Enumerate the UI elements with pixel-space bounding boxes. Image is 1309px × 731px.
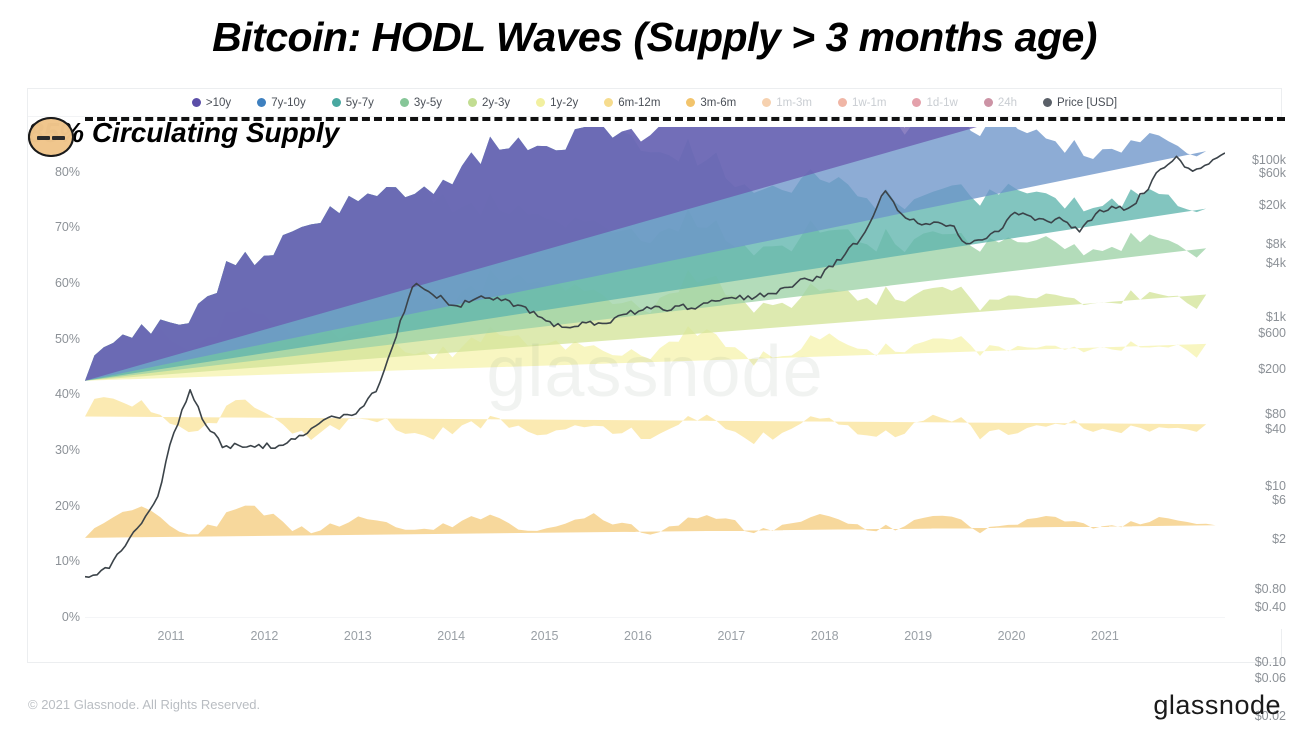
legend-swatch-icon (332, 98, 341, 107)
legend-item-price-usd[interactable]: Price [USD] (1043, 97, 1117, 109)
legend-label: 5y-7y (346, 97, 374, 109)
legend-item-1m-3m[interactable]: 1m-3m (762, 97, 812, 109)
y-axis-tick-label: 50% (28, 332, 80, 346)
y-axis-tick-label: 20% (28, 499, 80, 513)
legend-label: 1w-1m (852, 97, 887, 109)
price-axis-tick-label: $100k (1224, 153, 1286, 167)
y-axis-tick-label: 10% (28, 554, 80, 568)
plot-wrapper: glassnode 0%10%20%30%40%50%60%70%80% $10… (28, 117, 1281, 662)
legend-label: 24h (998, 97, 1017, 109)
legend-item-6m-12m[interactable]: 6m-12m (604, 97, 660, 109)
price-axis-tick-label: $200 (1224, 362, 1286, 376)
area-band-3m-6m (85, 506, 1216, 538)
x-axis-tick-label: 2020 (998, 629, 1026, 643)
legend-item-1y-2y[interactable]: 1y-2y (536, 97, 578, 109)
chart-legend[interactable]: >10y7y-10y5y-7y3y-5y2y-3y1y-2y6m-12m3m-6… (28, 89, 1281, 117)
legend-swatch-icon (762, 98, 771, 107)
legend-swatch-icon (536, 98, 545, 107)
legend-label: 3m-6m (700, 97, 736, 109)
price-axis-tick-label: $40 (1224, 422, 1286, 436)
copyright-text: © 2021 Glassnode. All Rights Reserved. (28, 697, 260, 712)
price-axis-tick-label: $80 (1224, 407, 1286, 421)
legend-swatch-icon (984, 98, 993, 107)
legend-label: 7y-10y (271, 97, 306, 109)
y-axis-tick-label: 0% (28, 610, 80, 624)
price-axis-tick-label: $8k (1224, 237, 1286, 251)
price-axis-tick-label: $600 (1224, 326, 1286, 340)
page-title: Bitcoin: HODL Waves (Supply > 3 months a… (0, 14, 1309, 61)
legend-label: 1d-1w (926, 97, 957, 109)
legend-swatch-icon (838, 98, 847, 107)
legend-label: >10y (206, 97, 231, 109)
x-axis-tick-label: 2012 (250, 629, 278, 643)
y-axis-tick-label: 60% (28, 276, 80, 290)
y-axis-tick-label: 70% (28, 220, 80, 234)
legend-swatch-icon (1043, 98, 1052, 107)
y-axis-tick-label: 40% (28, 387, 80, 401)
price-axis-tick-label: $0.06 (1224, 671, 1286, 685)
legend-swatch-icon (912, 98, 921, 107)
x-axis-tick-label: 2021 (1091, 629, 1119, 643)
legend-swatch-icon (604, 98, 613, 107)
legend-label: 1m-3m (776, 97, 812, 109)
legend-item-1d-1w[interactable]: 1d-1w (912, 97, 957, 109)
chart-card: >10y7y-10y5y-7y3y-5y2y-3y1y-2y6m-12m3m-6… (27, 88, 1282, 663)
x-axis-tick-label: 2011 (158, 629, 185, 643)
legend-swatch-icon (686, 98, 695, 107)
face-eye-left (37, 136, 50, 140)
price-axis-tick-label: $10 (1224, 479, 1286, 493)
price-axis-tick-label: $6 (1224, 493, 1286, 507)
legend-item-7y-10y[interactable]: 7y-10y (257, 97, 306, 109)
price-axis-tick-label: $20k (1224, 198, 1286, 212)
legend-item-2y-3y[interactable]: 2y-3y (468, 97, 510, 109)
x-axis-tick-label: 2017 (717, 629, 745, 643)
price-axis-tick-label: $0.40 (1224, 600, 1286, 614)
x-axis-tick-label: 2015 (531, 629, 559, 643)
legend-item-3y-5y[interactable]: 3y-5y (400, 97, 442, 109)
legend-label: 1y-2y (550, 97, 578, 109)
price-axis-tick-label: $2 (1224, 532, 1286, 546)
x-axis-tick-label: 2019 (904, 629, 932, 643)
price-axis-tick-label: $60k (1224, 166, 1286, 180)
legend-label: 6m-12m (618, 97, 660, 109)
price-axis-tick-label: $4k (1224, 256, 1286, 270)
legend-swatch-icon (257, 98, 266, 107)
x-axis-tick-label: 2018 (811, 629, 839, 643)
face-eye-right (52, 136, 65, 140)
price-axis-tick-label: $0.80 (1224, 582, 1286, 596)
x-axis-tick-label: 2013 (344, 629, 372, 643)
legend-label: 3y-5y (414, 97, 442, 109)
legend-item-5y-7y[interactable]: 5y-7y (332, 97, 374, 109)
x-axis-tick-label: 2016 (624, 629, 652, 643)
legend-label: 2y-3y (482, 97, 510, 109)
glassnode-logo: glassnode (1153, 690, 1281, 721)
hodl-waves-svg (85, 127, 1225, 617)
expressionless-face-icon (28, 117, 74, 157)
legend-item-1w-1m[interactable]: 1w-1m (838, 97, 887, 109)
legend-swatch-icon (400, 98, 409, 107)
legend-item-24h[interactable]: 24h (984, 97, 1017, 109)
legend-item-3m-6m[interactable]: 3m-6m (686, 97, 736, 109)
legend-swatch-icon (192, 98, 201, 107)
price-axis-tick-label: $1k (1224, 310, 1286, 324)
legend-label: Price [USD] (1057, 97, 1117, 109)
x-axis-tick-label: 2014 (437, 629, 465, 643)
legend-item-10y[interactable]: >10y (192, 97, 231, 109)
supply-threshold-label: 85% Circulating Supply (28, 117, 339, 149)
y-axis-tick-label: 30% (28, 443, 80, 457)
plot-area[interactable] (85, 127, 1225, 617)
gridline (85, 617, 1225, 618)
price-axis-tick-label: $0.10 (1224, 655, 1286, 669)
legend-swatch-icon (468, 98, 477, 107)
y-axis-tick-label: 80% (28, 165, 80, 179)
area-band-6m-12m (85, 397, 1206, 444)
